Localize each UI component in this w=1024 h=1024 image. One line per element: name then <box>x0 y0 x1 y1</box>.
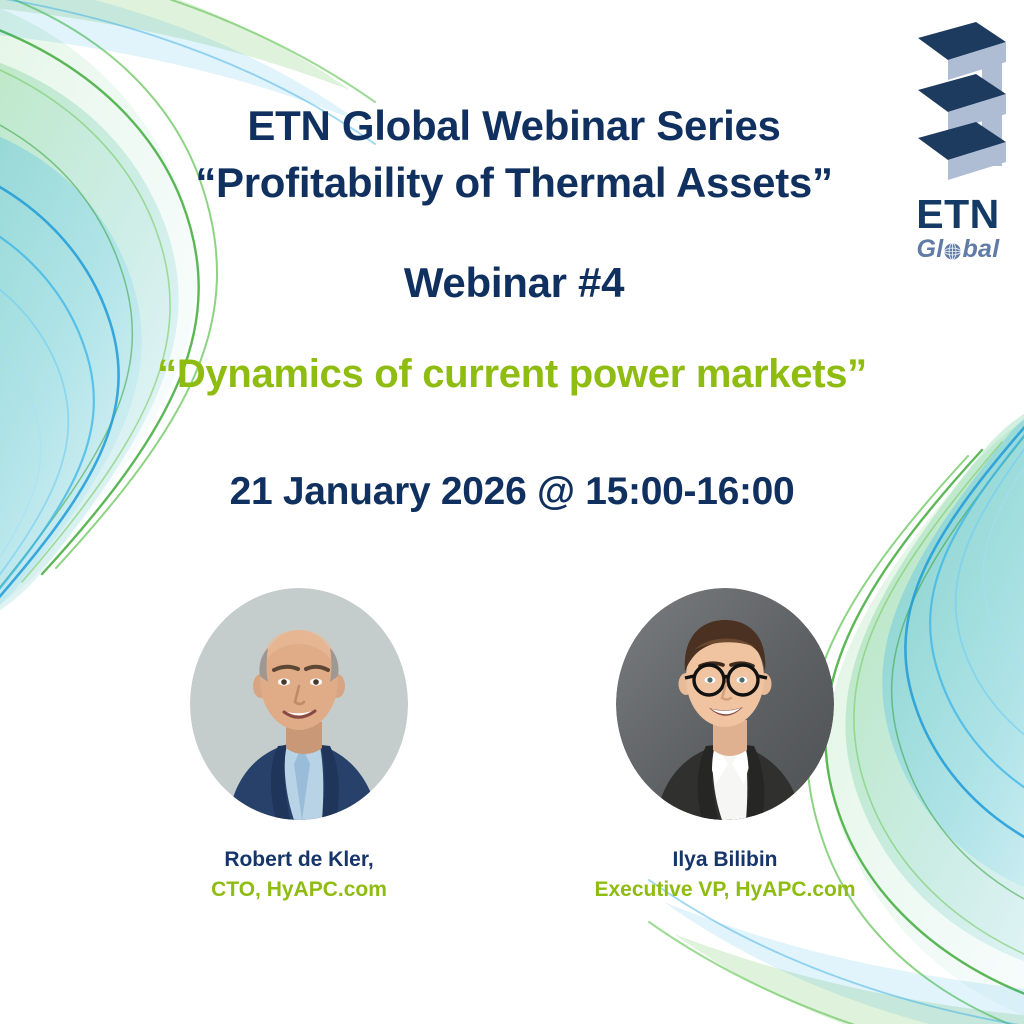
speakers-section: Robert de Kler, CTO, HyAPC.com <box>0 588 1024 902</box>
webinar-topic: “Dynamics of current power markets” <box>0 352 1024 397</box>
series-title-line2: “Profitability of Thermal Assets” <box>4 155 1024 212</box>
speaker-name-2: Ilya Bilibin <box>555 848 895 872</box>
wave-decoration-top-left <box>0 0 400 640</box>
series-title-line1: ETN Global Webinar Series <box>4 98 1024 155</box>
speaker-photo-ilya-bilibin <box>616 588 834 820</box>
speaker-photo-robert-de-kler <box>190 588 408 820</box>
webinar-number: Webinar #4 <box>4 259 1024 307</box>
speaker-card-2: Ilya Bilibin Executive VP, HyAPC.com <box>610 588 840 902</box>
speaker-name-1: Robert de Kler, <box>129 848 469 872</box>
webinar-datetime: 21 January 2026 @ 15:00-16:00 <box>0 470 1024 514</box>
speaker-caption-1: Robert de Kler, CTO, HyAPC.com <box>129 848 469 902</box>
webinar-poster: ETN Gl bal ETN Global Webinar Series “Pr… <box>0 0 1024 1024</box>
speaker-card-1: Robert de Kler, CTO, HyAPC.com <box>184 588 414 902</box>
speaker-caption-2: Ilya Bilibin Executive VP, HyAPC.com <box>555 848 895 902</box>
header-block: ETN Global Webinar Series “Profitability… <box>0 98 1024 307</box>
speaker-role-1: CTO, HyAPC.com <box>129 878 469 902</box>
speaker-role-2: Executive VP, HyAPC.com <box>555 878 895 902</box>
